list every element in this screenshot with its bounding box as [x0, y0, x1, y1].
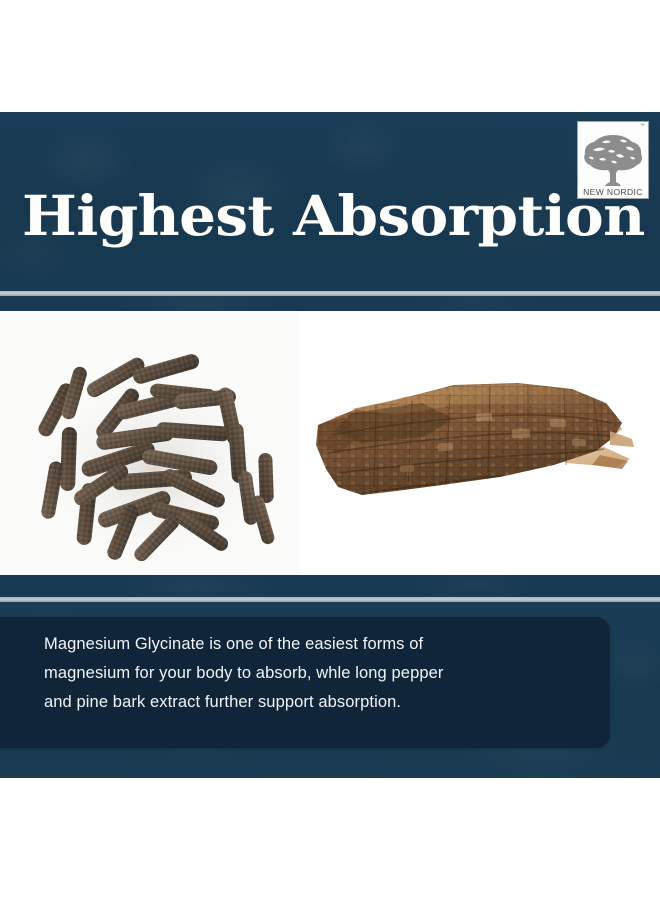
pine-bark-illustration	[304, 373, 634, 513]
description-line-2: magnesium for your body to absorb, whle …	[44, 659, 589, 688]
pine-bark-image	[300, 311, 660, 575]
hero-banner: Highest Absorption ™	[0, 112, 660, 292]
divider-dark-bottom	[0, 575, 660, 597]
description-line-1: Magnesium Glycinate is one of the easies…	[44, 630, 589, 659]
divider-dark-top	[0, 296, 660, 311]
brand-name: NEW NORDIC	[583, 188, 643, 197]
brand-logo: ™ NEW NORDIC	[577, 121, 649, 199]
long-pepper-image	[0, 311, 300, 575]
tree-icon	[582, 133, 644, 187]
description-line-3: and pine bark extract further support ab…	[44, 688, 589, 717]
trademark-symbol: ™	[640, 124, 645, 129]
product-infographic: Highest Absorption ™	[0, 0, 660, 900]
ingredient-gallery	[0, 311, 660, 575]
page-title: Highest Absorption	[22, 188, 660, 243]
description-section: Magnesium Glycinate is one of the easies…	[0, 602, 660, 778]
long-pepper-illustration	[4, 319, 296, 569]
description-text: Magnesium Glycinate is one of the easies…	[44, 630, 589, 717]
